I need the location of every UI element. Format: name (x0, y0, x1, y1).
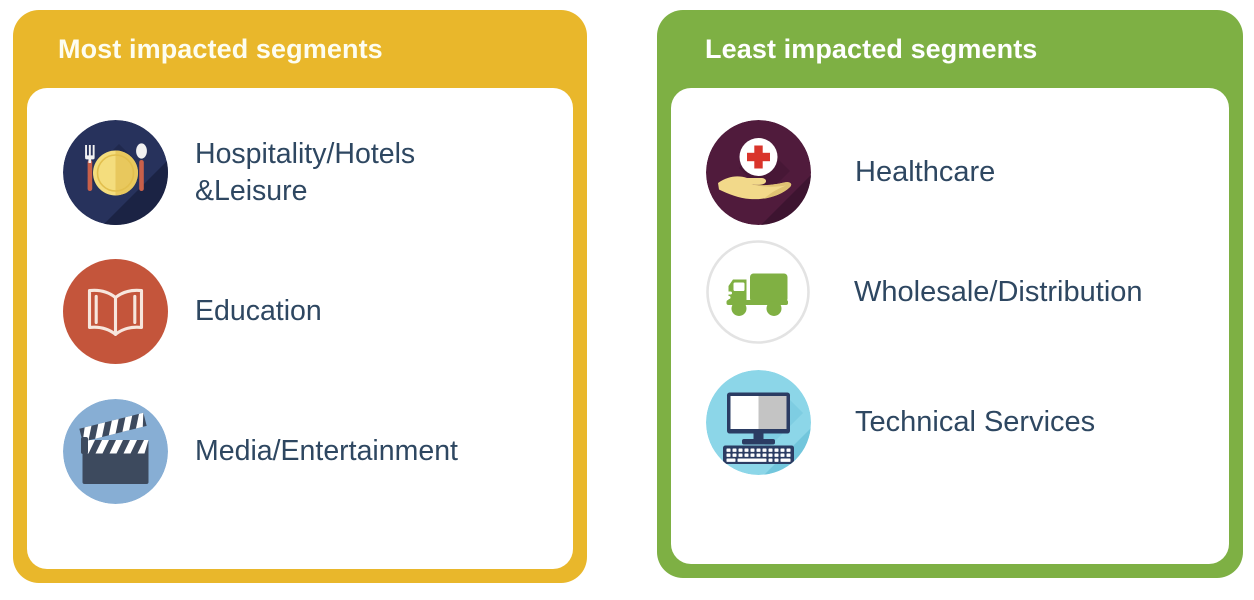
panel-title-least-impacted: Least impacted segments (657, 10, 1243, 88)
list-item-label: Healthcare (855, 154, 995, 191)
list-item[interactable]: Education (63, 259, 322, 364)
hand-medical-cross-icon (706, 120, 811, 225)
list-item-label: Education (195, 293, 322, 329)
list-item-label: Wholesale/Distribution (854, 274, 1143, 311)
dining-plate-icon (63, 120, 168, 225)
panel-least-impacted: Least impacted segments (657, 10, 1243, 578)
card-least-impacted: Healthcare (671, 88, 1229, 564)
list-item-label: Hospitality/Hotels &Leisure (195, 136, 415, 208)
clapperboard-icon (63, 399, 168, 504)
desktop-computer-icon (706, 370, 811, 475)
panel-most-impacted: Most impacted segments (13, 10, 587, 583)
open-book-icon (63, 259, 168, 364)
list-item-label: Media/Entertainment (195, 433, 458, 469)
list-item[interactable]: Wholesale/Distribution (706, 240, 1143, 344)
list-item[interactable]: Healthcare (706, 120, 995, 225)
list-item[interactable]: Hospitality/Hotels &Leisure (63, 120, 415, 225)
panel-title-most-impacted: Most impacted segments (13, 10, 587, 88)
delivery-truck-icon (706, 240, 810, 344)
card-most-impacted: Hospitality/Hotels &Leisure (27, 88, 573, 569)
list-item[interactable]: Media/Entertainment (63, 399, 458, 504)
list-item-label: Technical Services (855, 404, 1095, 441)
segments-comparison-graphic: Most impacted segments (0, 0, 1254, 600)
list-item[interactable]: Technical Services (706, 370, 1095, 475)
